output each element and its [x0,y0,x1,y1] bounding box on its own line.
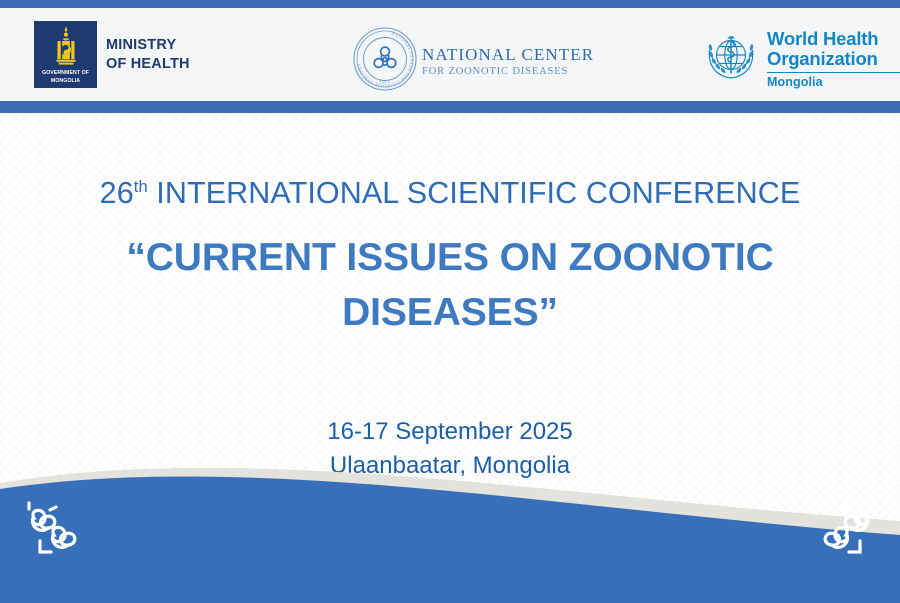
national-center-line1: NATIONAL CENTER [422,46,594,64]
mongolian-knot-ornament-left [20,500,92,567]
moh-label-line2: OF HEALTH [106,55,190,74]
who-mongolia-logo: World Health Organization Mongolia [702,28,900,91]
svg-text:1951: 1951 [379,80,390,85]
national-center-label: NATIONAL CENTER FOR ZOONOTIC DISEASES [422,46,594,78]
logo-row: GOVERNMENT OF MONGOLIA MINISTRY OF HEALT… [0,8,900,101]
conference-number-title: 26th INTERNATIONAL SCIENTIFIC CONFERENCE [0,176,900,211]
slide-headline: “CURRENT ISSUES ON ZOONOTIC DISEASES” [60,230,840,341]
biohazard-seal-icon: NATIONAL CENTER FOR ZOONOTIC DISEASES 19… [352,26,418,97]
national-center-logo: NATIONAL CENTER FOR ZOONOTIC DISEASES 19… [352,26,594,97]
who-line2: Organization [767,49,900,69]
who-label: World Health Organization Mongolia [767,28,900,89]
top-accent-bar [0,0,900,8]
moh-label-line1: MINISTRY [106,36,190,55]
header-divider-bar [0,101,900,113]
banner-curve-shapes [0,463,900,603]
moh-emblem-line1: GOVERNMENT OF [34,71,97,76]
conference-title-text: INTERNATIONAL SCIENTIFIC CONFERENCE [148,176,801,210]
conference-ordinal-suffix: th [134,178,148,196]
mongolia-soyombo-emblem-icon: GOVERNMENT OF MONGOLIA [34,21,97,88]
who-line1: World Health [767,29,900,49]
event-date: 16-17 September 2025 [0,415,900,449]
national-center-line2: FOR ZOONOTIC DISEASES [422,66,594,77]
moh-emblem-line2: MONGOLIA [34,79,97,84]
ministry-of-health-logo: GOVERNMENT OF MONGOLIA MINISTRY OF HEALT… [34,21,190,88]
conference-number: 26 [100,176,134,210]
bottom-decorative-banner [0,463,900,603]
mongolian-knot-ornament-right [808,500,880,567]
who-country-label: Mongolia [767,75,900,89]
who-underline-rule [767,72,900,74]
ministry-of-health-label: MINISTRY OF HEALTH [106,36,190,73]
who-globe-laurel-icon [702,28,760,91]
conference-title-slide: GOVERNMENT OF MONGOLIA MINISTRY OF HEALT… [0,0,900,603]
